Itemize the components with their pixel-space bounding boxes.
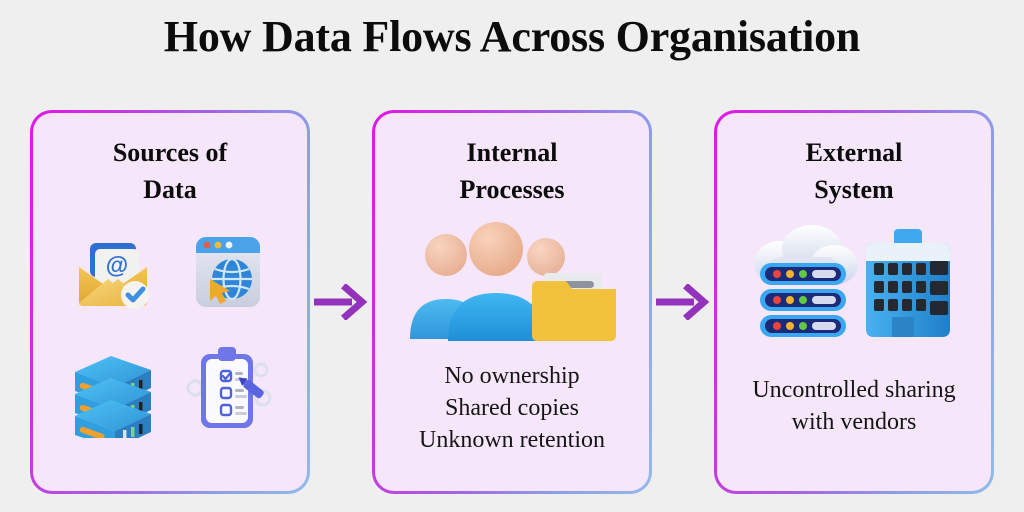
card-title: Sources of Data xyxy=(113,135,227,209)
database-server-icon xyxy=(67,342,159,443)
page-title: How Data Flows Across Organisation xyxy=(0,14,1024,60)
internal-process-icons xyxy=(404,215,620,348)
flow-card-sources-of-data[interactable]: Sources of Data xyxy=(30,110,310,494)
browser-globe-icon xyxy=(188,229,268,320)
arrow-right-icon xyxy=(654,284,712,320)
flow-arrow-2 xyxy=(652,110,714,494)
card-body-text: No ownership Shared copies Unknown reten… xyxy=(419,361,605,457)
flow-diagram: Sources of Data xyxy=(0,110,1024,498)
card-content: External System xyxy=(717,113,991,491)
flow-card-external-system[interactable]: External System xyxy=(714,110,994,494)
flow-card-internal-processes[interactable]: Internal Processes xyxy=(372,110,652,494)
card-title: Internal Processes xyxy=(460,135,565,209)
diagram-canvas: How Data Flows Across Organisation Sourc… xyxy=(0,0,1024,512)
flow-arrow-1 xyxy=(310,110,372,494)
email-envelope-icon: @ xyxy=(70,229,156,320)
card-content: Sources of Data xyxy=(33,113,307,491)
card-body-text: Uncontrolled sharing with vendors xyxy=(752,375,955,439)
external-system-icons xyxy=(736,223,972,348)
arrow-right-icon xyxy=(312,284,370,320)
source-icon-grid: @ xyxy=(55,229,285,443)
card-content: Internal Processes xyxy=(375,113,649,491)
clipboard-checklist-icon xyxy=(183,342,273,443)
card-title: External System xyxy=(806,135,903,209)
